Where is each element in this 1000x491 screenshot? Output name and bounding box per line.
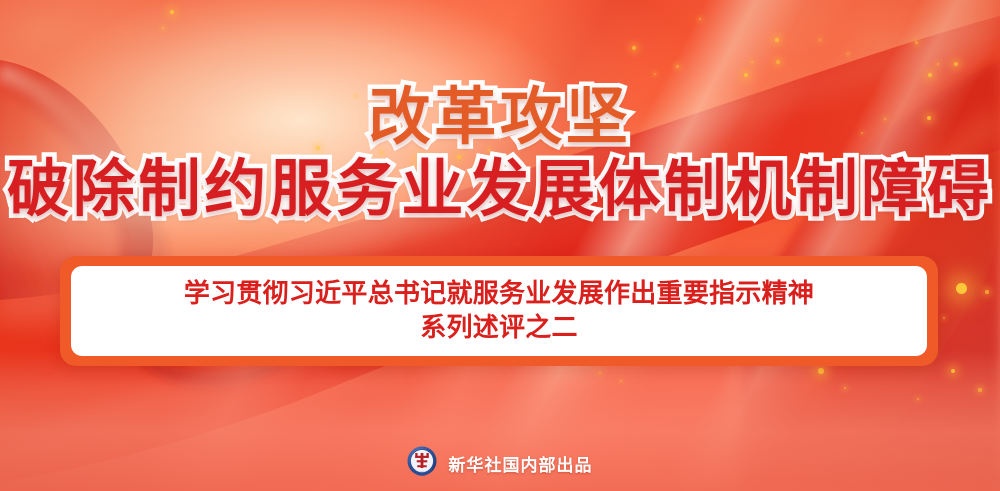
subtitle-frame: 学习贯彻习近平总书记就服务业发展作出重要指示精神 系列述评之二 xyxy=(60,256,938,366)
xinhua-logo-svg xyxy=(407,446,437,476)
headline-block: 改革攻坚 破除制约服务业发展体制机制障碍 xyxy=(0,86,1000,220)
headline-line-1: 改革攻坚 xyxy=(0,86,1000,148)
silk-ribbon-illustration xyxy=(0,0,1000,491)
subtitle-line-1: 学习贯彻习近平总书记就服务业发展作出重要指示精神 xyxy=(184,277,814,311)
xinhua-agency-logo-icon xyxy=(407,446,437,481)
poster-canvas: 改革攻坚 破除制约服务业发展体制机制障碍 学习贯彻习近平总书记就服务业发展作出重… xyxy=(0,0,1000,491)
footer-credit: 新华社国内部出品 xyxy=(0,442,1000,484)
headline-line-2: 破除制约服务业发展体制机制障碍 xyxy=(0,158,1000,220)
subtitle-line-2: 系列述评之二 xyxy=(420,311,578,345)
footer-label: 新华社国内部出品 xyxy=(448,451,592,476)
subtitle-panel: 学习贯彻习近平总书记就服务业发展作出重要指示精神 系列述评之二 xyxy=(71,266,927,356)
